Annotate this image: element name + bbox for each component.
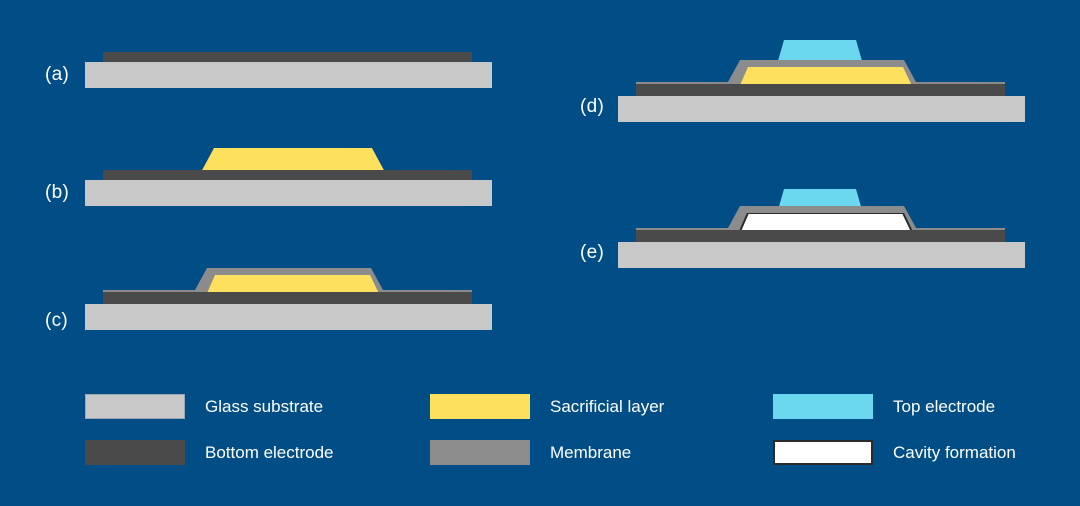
legend-item-glass-substrate: Glass substrate (85, 394, 323, 419)
panel-label-c: (c) (45, 310, 68, 332)
legend-swatch-bottom-electrode (85, 440, 185, 465)
panel-label-e: (e) (580, 242, 604, 264)
legend-label-bottom-electrode: Bottom electrode (205, 443, 334, 463)
legend-item-sacrificial-layer: Sacrificial layer (430, 394, 664, 419)
panel-label-d: (d) (580, 96, 604, 118)
legend-swatch-glass-substrate (85, 394, 185, 419)
bottom-electrode-layer (636, 230, 1005, 242)
legend-swatch-cavity-formation (773, 440, 873, 465)
bottom-electrode-layer (103, 170, 472, 180)
legend-swatch-membrane (430, 440, 530, 465)
legend-label-glass-substrate: Glass substrate (205, 397, 323, 417)
glass-substrate-layer (85, 304, 492, 330)
legend-item-membrane: Membrane (430, 440, 631, 465)
legend-swatch-top-electrode (773, 394, 873, 419)
legend-item-bottom-electrode: Bottom electrode (85, 440, 334, 465)
legend: Glass substrate Bottom electrode Sacrifi… (0, 380, 1080, 480)
panel-label-b: (b) (45, 182, 69, 204)
top-electrode-shape (778, 40, 862, 61)
legend-swatch-sacrificial-layer (430, 394, 530, 419)
glass-substrate-layer (85, 180, 492, 206)
legend-item-top-electrode: Top electrode (773, 394, 995, 419)
bottom-electrode-layer (103, 52, 472, 62)
legend-label-top-electrode: Top electrode (893, 397, 995, 417)
legend-label-membrane: Membrane (550, 443, 631, 463)
glass-substrate-layer (85, 62, 492, 88)
process-flow-figure: (a) (b) (c) (d) (0, 0, 1080, 506)
bottom-electrode-layer (103, 292, 472, 304)
panel-label-a: (a) (45, 64, 69, 86)
glass-substrate-layer (618, 242, 1025, 268)
bottom-electrode-layer (636, 84, 1005, 96)
legend-label-sacrificial-layer: Sacrificial layer (550, 397, 664, 417)
legend-label-cavity-formation: Cavity formation (893, 443, 1016, 463)
legend-item-cavity-formation: Cavity formation (773, 440, 1016, 465)
glass-substrate-layer (618, 96, 1025, 122)
